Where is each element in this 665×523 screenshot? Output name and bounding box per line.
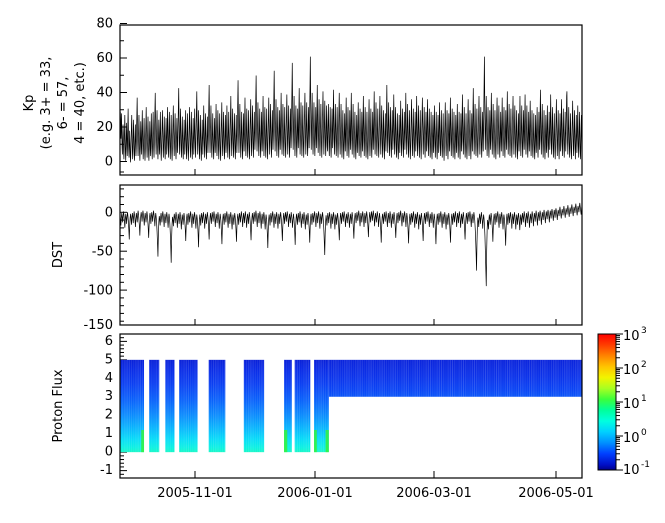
- spectrogram-column: [580, 360, 581, 397]
- spectrogram-column: [165, 360, 166, 452]
- spectrogram-column: [218, 360, 219, 452]
- spectrogram-column: [511, 360, 512, 397]
- spectrogram-column: [456, 360, 457, 397]
- cb-mant-2: 10: [623, 397, 640, 412]
- spectrogram-column: [135, 360, 136, 452]
- spectrogram-column: [470, 360, 471, 397]
- spectrogram-column: [388, 360, 389, 397]
- spectrogram-column: [181, 360, 182, 452]
- spectrogram-column: [547, 360, 548, 397]
- spectrogram-column: [492, 360, 493, 397]
- spectrogram-column: [346, 360, 347, 397]
- spectrogram-column: [415, 360, 416, 397]
- spectrogram-column: [149, 360, 150, 452]
- spectrogram-column: [573, 360, 574, 397]
- spectrogram-column: [357, 360, 358, 397]
- cb-exp-3: 2: [641, 360, 647, 370]
- spectrogram-column: [295, 360, 296, 452]
- spectrogram-column: [310, 360, 311, 452]
- spectrogram-column: [244, 360, 245, 452]
- spectrogram-column: [246, 360, 247, 452]
- spectrogram-column: [483, 360, 484, 397]
- spectrogram-column: [156, 360, 157, 452]
- spectrogram-column: [158, 360, 159, 452]
- spectrogram-column: [259, 360, 260, 452]
- spectrogram-column: [362, 360, 363, 397]
- spectrogram-column: [368, 360, 369, 397]
- spectrogram-column: [509, 360, 510, 397]
- spectrogram-hot-streak: [141, 430, 144, 452]
- spectrogram-column: [406, 360, 407, 397]
- spectrogram-column: [555, 360, 556, 397]
- spectrogram-column: [195, 360, 196, 452]
- spectrogram-column: [520, 360, 521, 397]
- spectrogram-column: [516, 360, 517, 397]
- cb-exp-0: -1: [641, 460, 650, 470]
- spectrogram-column: [248, 360, 249, 452]
- spectrogram-column: [566, 360, 567, 397]
- spectrogram-column: [498, 360, 499, 397]
- cb-exp-1: 0: [641, 428, 647, 438]
- spectrogram-column: [404, 360, 405, 397]
- flux-ylabel: Proton Flux: [51, 369, 66, 442]
- spectrogram-column: [377, 360, 378, 397]
- spectrogram-column: [340, 360, 341, 397]
- spectrogram-column: [264, 360, 265, 452]
- spectrogram-column: [291, 360, 292, 452]
- spectrogram-column: [209, 360, 210, 452]
- spectrogram-column: [138, 360, 139, 452]
- xtick-label-2: 2006-03-01: [396, 486, 472, 501]
- spectrogram-column: [349, 360, 350, 397]
- figure-canvas: Kp (e.g. 3+ = 33, 6- = 57, 4 = 40, etc.)…: [0, 0, 665, 523]
- cb-mant-3: 10: [623, 363, 640, 378]
- spectrogram-column: [496, 360, 497, 397]
- spectrogram-column: [472, 360, 473, 397]
- spectrogram-column: [538, 360, 539, 397]
- spectrogram-column: [454, 360, 455, 397]
- spectrogram-column: [478, 360, 479, 397]
- spectrogram-column: [342, 360, 343, 397]
- flux-ytick-m1: -1: [100, 463, 113, 478]
- spectrogram-column: [250, 360, 251, 452]
- spectrogram-column: [531, 360, 532, 397]
- flux-ytick-3: 3: [105, 389, 113, 404]
- spectrogram-column: [551, 360, 552, 397]
- spectrogram-column: [443, 360, 444, 397]
- spectrogram-column: [423, 360, 424, 397]
- spectrogram-column: [489, 360, 490, 397]
- spectrogram-column: [167, 360, 168, 452]
- spectrogram-hot-streak: [284, 430, 287, 452]
- spectrogram-column: [127, 360, 128, 452]
- dst-ytick-2: -100: [83, 283, 113, 298]
- spectrogram-column: [571, 360, 572, 397]
- spectrogram-column: [360, 360, 361, 397]
- spectrogram-column: [503, 360, 504, 397]
- spectrogram-column: [154, 360, 155, 452]
- spectrogram-column: [401, 360, 402, 397]
- spectrogram-column: [562, 360, 563, 397]
- kp-ylabel-line-1: Kp: [22, 95, 37, 112]
- plot-svg: Kp (e.g. 3+ = 33, 6- = 57, 4 = 40, etc.)…: [0, 0, 665, 523]
- spectrogram-column: [412, 360, 413, 397]
- spectrogram-column: [379, 360, 380, 397]
- spectrogram-column: [426, 360, 427, 397]
- kp-ytick-3: 60: [96, 51, 113, 66]
- spectrogram-column: [329, 360, 330, 397]
- spectrogram-column: [257, 360, 258, 452]
- spectrogram-column: [419, 360, 420, 397]
- spectrogram-column: [558, 360, 559, 397]
- cb-mant-0: 10: [623, 463, 640, 478]
- colorbar-gradient: [598, 334, 616, 470]
- flux-ytick-4: 4: [105, 371, 113, 386]
- spectrogram-column: [452, 360, 453, 397]
- spectrogram-column: [124, 360, 125, 452]
- spectrogram-column: [186, 360, 187, 452]
- kp-ytick-0: 0: [105, 155, 113, 170]
- spectrogram-column: [439, 360, 440, 397]
- spectrogram-column: [525, 360, 526, 397]
- spectrogram-column: [297, 360, 298, 452]
- spectrogram-column: [527, 360, 528, 397]
- dst-ytick-3: -150: [83, 318, 113, 333]
- kp-ytick-1: 20: [96, 120, 113, 135]
- cb-exp-2: 1: [641, 394, 647, 404]
- spectrogram-column: [288, 360, 289, 452]
- spectrogram-column: [373, 360, 374, 397]
- spectrogram-column: [211, 360, 212, 452]
- spectrogram-column: [131, 360, 132, 452]
- spectrogram-column: [540, 360, 541, 397]
- spectrogram-column: [397, 360, 398, 397]
- dst-ytick-1: -50: [92, 244, 113, 259]
- spectrogram-column: [151, 360, 152, 452]
- spectrogram-column: [514, 360, 515, 397]
- spectrogram-column: [432, 360, 433, 397]
- spectrogram-column: [375, 360, 376, 397]
- spectrogram-column: [366, 360, 367, 397]
- spectrogram-column: [318, 360, 319, 452]
- spectrogram-column: [395, 360, 396, 397]
- spectrogram-column: [197, 360, 198, 452]
- spectrogram-column: [434, 360, 435, 397]
- spectrogram-column: [351, 360, 352, 397]
- spectrogram-column: [321, 360, 322, 452]
- spectrogram-column: [222, 360, 223, 452]
- spectrogram-column: [220, 360, 221, 452]
- xtick-label-3: 2006-05-01: [518, 486, 594, 501]
- spectrogram-column: [536, 360, 537, 397]
- dst-ylabel: DST: [51, 242, 66, 268]
- spectrogram-column: [522, 360, 523, 397]
- spectrogram-column: [560, 360, 561, 397]
- spectrogram-column: [170, 360, 171, 452]
- spectrogram-column: [355, 360, 356, 397]
- spectrogram-column: [133, 360, 134, 452]
- spectrogram-column: [505, 360, 506, 397]
- spectrogram-column: [474, 360, 475, 397]
- spectrogram-column: [331, 360, 332, 397]
- spectrogram-column: [564, 360, 565, 397]
- dst-ytick-0: 0: [105, 206, 113, 221]
- spectrogram-column: [500, 360, 501, 397]
- spectrogram-column: [306, 360, 307, 452]
- xtick-label-1: 2006-01-01: [277, 486, 353, 501]
- spectrogram-column: [553, 360, 554, 397]
- spectrogram-column: [174, 360, 175, 452]
- kp-ytick-2: 40: [96, 86, 113, 101]
- spectrogram-column: [382, 360, 383, 397]
- spectrogram-column: [301, 360, 302, 452]
- spectrogram-column: [255, 360, 256, 452]
- spectrogram-column: [428, 360, 429, 397]
- kp-ylabel-line-2: (e.g. 3+ = 33,: [39, 57, 54, 150]
- spectrogram-column: [441, 360, 442, 397]
- spectrogram-column: [261, 360, 262, 452]
- spectrogram-column: [465, 360, 466, 397]
- background: [0, 0, 665, 523]
- spectrogram-column: [430, 360, 431, 397]
- spectrogram-column: [575, 360, 576, 397]
- flux-ytick-0: 0: [105, 445, 113, 460]
- spectrogram-column: [485, 360, 486, 397]
- spectrogram-column: [417, 360, 418, 397]
- spectrogram-column: [190, 360, 191, 452]
- spectrogram-column: [467, 360, 468, 397]
- spectrogram-column: [393, 360, 394, 397]
- spectrogram-column: [542, 360, 543, 397]
- spectrogram-column: [344, 360, 345, 397]
- spectrogram-column: [494, 360, 495, 397]
- spectrogram-column: [421, 360, 422, 397]
- spectrogram-column: [215, 360, 216, 452]
- spectrogram-column: [507, 360, 508, 397]
- spectrogram-column: [184, 360, 185, 452]
- spectrogram-column: [129, 360, 130, 452]
- spectrogram-column: [463, 360, 464, 397]
- spectrogram-column: [172, 360, 173, 452]
- spectrogram-hot-streak: [314, 430, 317, 452]
- flux-ytick-5: 5: [105, 352, 113, 367]
- spectrogram-column: [371, 360, 372, 397]
- xtick-label-0: 2005-11-01: [157, 486, 233, 501]
- spectrogram-column: [577, 360, 578, 397]
- spectrogram-column: [390, 360, 391, 397]
- spectrogram-column: [408, 360, 409, 397]
- spectrogram-column: [303, 360, 304, 452]
- kp-ytick-4: 80: [96, 17, 113, 32]
- spectrogram-column: [445, 360, 446, 397]
- kp-ylabel-line-3: 6- = 57,: [56, 77, 71, 130]
- flux-ytick-1: 1: [105, 426, 113, 441]
- flux-ytick-2: 2: [105, 408, 113, 423]
- spectrogram-column: [569, 360, 570, 397]
- spectrogram-column: [299, 360, 300, 452]
- spectrogram-hot-streak: [326, 430, 329, 452]
- spectrogram-column: [476, 360, 477, 397]
- spectrogram-column: [213, 360, 214, 452]
- spectrogram-column: [533, 360, 534, 397]
- spectrogram-column: [487, 360, 488, 397]
- spectrogram-column: [549, 360, 550, 397]
- spectrogram-column: [140, 360, 141, 452]
- spectrogram-column: [386, 360, 387, 397]
- spectrogram-column: [544, 360, 545, 397]
- spectrogram-column: [192, 360, 193, 452]
- spectrogram-column: [122, 360, 123, 452]
- spectrogram-column: [364, 360, 365, 397]
- spectrogram-column: [399, 360, 400, 397]
- spectrogram-column: [410, 360, 411, 397]
- spectrogram-column: [308, 360, 309, 452]
- kp-ylabel-line-4: 4 = 40, etc.): [73, 62, 88, 144]
- spectrogram-column: [338, 360, 339, 397]
- cb-mant-1: 10: [623, 431, 640, 446]
- spectrogram-column: [335, 360, 336, 397]
- spectrogram-column: [437, 360, 438, 397]
- spectrogram-column: [448, 360, 449, 397]
- spectrogram-column: [224, 360, 225, 452]
- spectrogram-column: [529, 360, 530, 397]
- spectrogram-column: [253, 360, 254, 452]
- spectrogram-column: [353, 360, 354, 397]
- cb-mant-4: 10: [623, 329, 640, 344]
- spectrogram-column: [333, 360, 334, 397]
- spectrogram-column: [323, 360, 324, 452]
- spectrogram-column: [179, 360, 180, 452]
- spectrogram-column: [459, 360, 460, 397]
- cb-exp-4: 3: [641, 326, 647, 336]
- flux-ytick-6: 6: [105, 334, 113, 349]
- spectrogram-column: [481, 360, 482, 397]
- spectrogram-column: [450, 360, 451, 397]
- spectrogram-column: [384, 360, 385, 397]
- spectrogram-column: [461, 360, 462, 397]
- spectrogram-column: [188, 360, 189, 452]
- spectrogram-column: [518, 360, 519, 397]
